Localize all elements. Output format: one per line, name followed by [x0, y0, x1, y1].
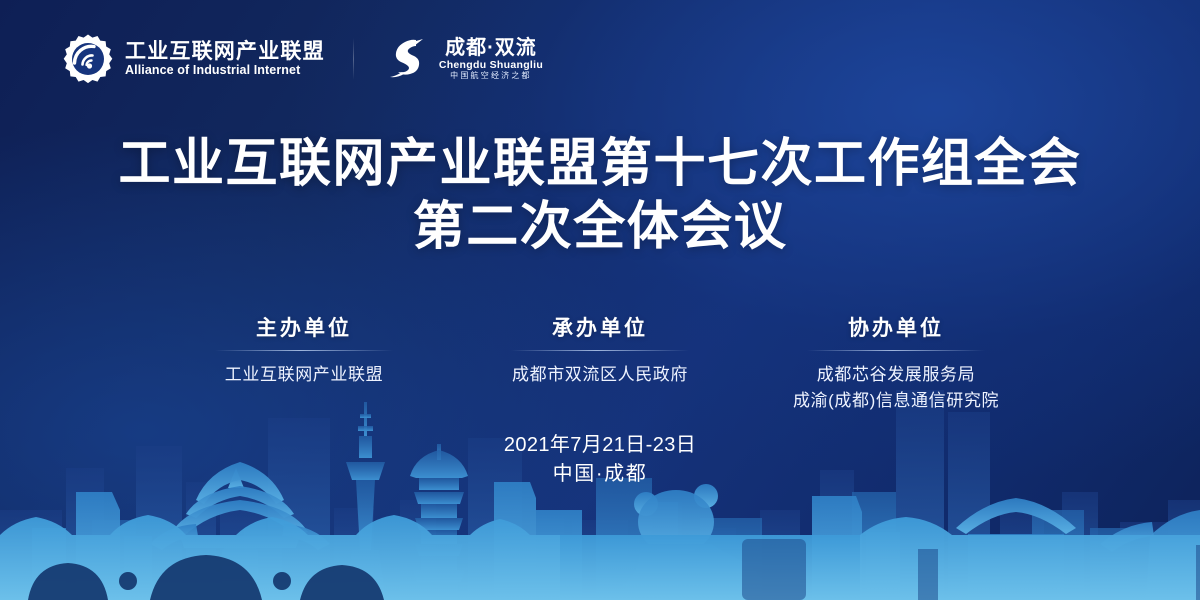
event-meta: 2021年7月21日-23日 中国·成都 — [0, 431, 1200, 489]
sponsor-role-label: 承办单位 — [452, 318, 748, 339]
logo-bar: 工业互联网产业联盟 Alliance of Industrial Interne… — [62, 33, 543, 85]
event-title: 工业互联网产业联盟第十七次工作组全会 第二次全体会议 — [0, 133, 1200, 259]
sponsor-section: 主办单位 工业互联网产业联盟 承办单位 成都市双流区人民政府 协办单位 成都芯谷… — [0, 318, 1200, 413]
sponsor-role-label: 主办单位 — [156, 318, 452, 339]
sponsor-column-host: 承办单位 成都市双流区人民政府 — [452, 318, 748, 413]
panda-silhouette — [622, 484, 763, 600]
event-date: 2021年7月21日-23日 — [0, 431, 1200, 460]
skyline-front-bridge-layer — [0, 505, 1200, 600]
alliance-name-en: Alliance of Industrial Internet — [125, 64, 325, 77]
chengdu-name-cn: 成都·双流 — [445, 38, 537, 58]
sponsor-name: 成都市双流区人民政府 — [452, 362, 748, 388]
chengdu-shuangliu-logo: 成都·双流 Chengdu Shuangliu 中国航空经济之都 — [382, 34, 543, 84]
logo-divider — [353, 38, 354, 80]
event-location: 中国·成都 — [0, 460, 1200, 489]
sponsor-name: 成渝(成都)信息通信研究院 — [748, 388, 1044, 414]
alliance-name-cn: 工业互联网产业联盟 — [125, 41, 325, 62]
gear-wifi-icon — [62, 33, 114, 85]
sponsor-name: 成都芯谷发展服务局 — [748, 362, 1044, 388]
event-title-line-1: 工业互联网产业联盟第十七次工作组全会 — [0, 133, 1200, 196]
sponsor-divider — [807, 350, 985, 351]
traditional-roof-cluster — [956, 498, 1200, 600]
sponsor-name: 工业互联网产业联盟 — [156, 362, 452, 388]
alliance-logo: 工业互联网产业联盟 Alliance of Industrial Interne… — [62, 33, 325, 85]
skyline-mid-layer — [0, 400, 1200, 600]
airplane-ribbon-icon — [382, 34, 430, 84]
chengdu-tagline: 中国航空经济之都 — [450, 72, 532, 80]
conference-banner: 工业互联网产业联盟 Alliance of Industrial Interne… — [0, 0, 1200, 600]
sponsor-role-label: 协办单位 — [748, 318, 1044, 339]
sponsor-divider — [511, 350, 689, 351]
sponsor-divider — [215, 350, 393, 351]
sponsor-column-organizer: 主办单位 工业互联网产业联盟 — [156, 318, 452, 413]
event-title-line-2: 第二次全体会议 — [0, 196, 1200, 259]
covered-bridge-silhouette — [0, 515, 1200, 600]
sponsor-column-co-organizer: 协办单位 成都芯谷发展服务局 成渝(成都)信息通信研究院 — [748, 318, 1044, 413]
chengdu-name-en: Chengdu Shuangliu — [439, 60, 543, 71]
